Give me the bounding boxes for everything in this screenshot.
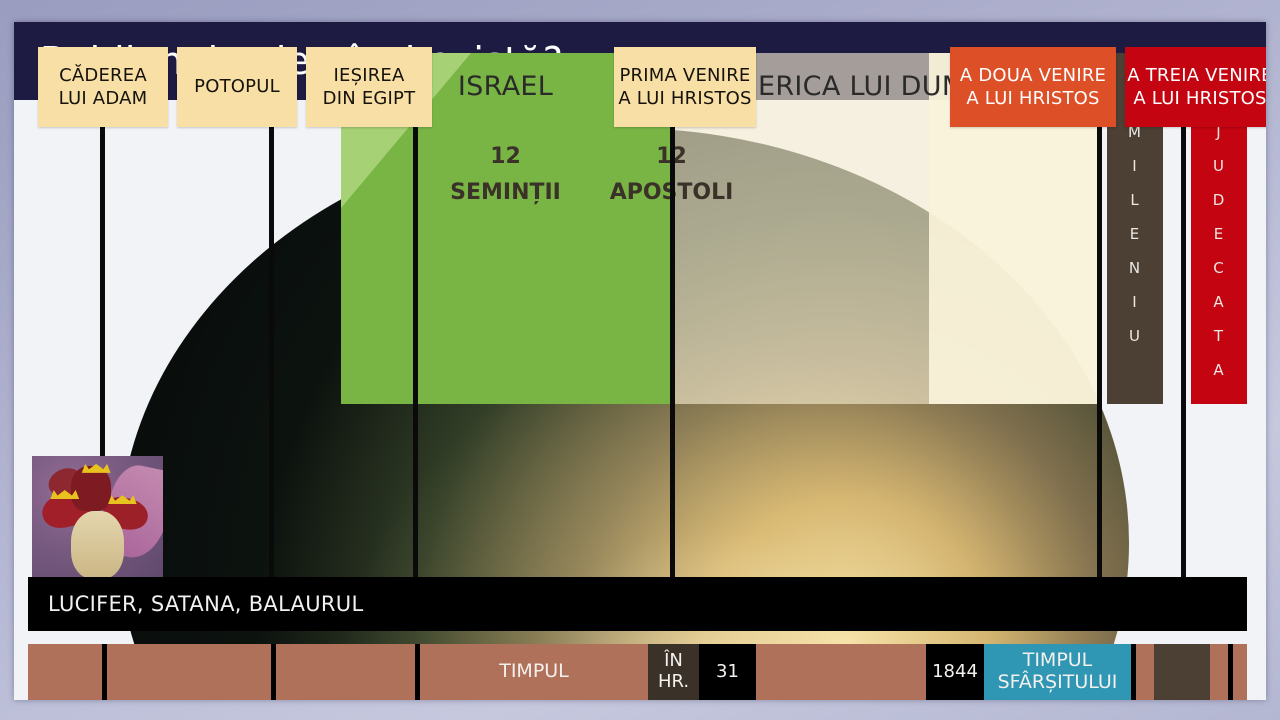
timeline-segment-label: 1844: [932, 662, 978, 683]
timeline-seg-1844[interactable]: 1844: [926, 644, 984, 700]
timeline-segment-label: 31: [716, 662, 739, 683]
band-mileniu-label: MILENIU: [1107, 115, 1163, 404]
dragon-body: [71, 511, 123, 579]
timeline-seg-2[interactable]: [107, 644, 271, 700]
event-label-caderea-lui-adam[interactable]: CĂDEREALUI ADAM: [38, 47, 168, 127]
band-judecata-label: JUDECATA: [1191, 115, 1247, 404]
timeline-seg-7[interactable]: [1233, 644, 1247, 700]
event-label-a-doua-venire-a-lui-hristos[interactable]: A DOUA VENIREA LUI HRISTOS: [950, 47, 1116, 127]
slide: Babilonul – de când există? ISRAEL 12 SE…: [14, 22, 1266, 700]
crown-icon: [50, 490, 79, 499]
timeline-seg-3[interactable]: [276, 644, 415, 700]
crown-icon: [108, 495, 137, 504]
lucifer-bar-label: LUCIFER, SATANA, BALAURUL: [48, 592, 363, 616]
timeline-seg-6[interactable]: [1210, 644, 1228, 700]
event-label-text: CĂDEREALUI ADAM: [59, 64, 148, 110]
timeline-seg-in-hr[interactable]: ÎNHR.: [648, 644, 699, 700]
timeline-seg-5[interactable]: [1136, 644, 1154, 700]
event-label-text: POTOPUL: [194, 75, 280, 98]
event-label-text: A DOUA VENIREA LUI HRISTOS: [960, 64, 1106, 110]
timeline-segment-label: TIMPUL: [499, 661, 569, 683]
event-label-prima-venire-a-lui-hristos[interactable]: PRIMA VENIREA LUI HRISTOS: [614, 47, 756, 127]
divider-potopul: [269, 116, 274, 606]
event-label-text: IEȘIREADIN EGIPT: [323, 64, 416, 110]
timeline-seg-4[interactable]: [756, 644, 926, 700]
timeline-seg-timpul-sfarsitului[interactable]: TIMPULSFÂRȘITULUI: [984, 644, 1131, 700]
timeline-seg-31[interactable]: 31: [699, 644, 756, 700]
dragon-head-2: [71, 466, 110, 511]
event-label-a-treia-venire-a-lui-hristos[interactable]: A TREIA VENIREA LUI HRISTOS: [1125, 47, 1266, 127]
timeline-seg-timpul[interactable]: TIMPUL: [420, 644, 648, 700]
timeline-segment-label: TIMPULSFÂRȘITULUI: [998, 650, 1118, 694]
divider-a-doua-venire: [1097, 116, 1102, 606]
timeline-seg-mileniu[interactable]: [1154, 644, 1210, 700]
timeline-segment-label: ÎNHR.: [658, 651, 689, 692]
balaur-rosu-image: [32, 456, 163, 587]
divider-iesirea: [413, 116, 418, 606]
event-label-text: A TREIA VENIREA LUI HRISTOS: [1127, 64, 1266, 110]
event-label-iesirea-din-egipt[interactable]: IEȘIREADIN EGIPT: [306, 47, 432, 127]
crown-icon: [82, 464, 111, 473]
timeline-seg-1[interactable]: [28, 644, 102, 700]
divider-prima-venire: [670, 116, 675, 606]
lucifer-bar: LUCIFER, SATANA, BALAURUL: [28, 577, 1247, 631]
divider-a-treia-venire: [1181, 116, 1186, 606]
event-label-potopul[interactable]: POTOPUL: [177, 47, 297, 127]
timeline-bar: TIMPULÎNHR.311844TIMPULSFÂRȘITULUI: [28, 644, 1247, 700]
event-label-text: PRIMA VENIREA LUI HRISTOS: [618, 64, 751, 110]
